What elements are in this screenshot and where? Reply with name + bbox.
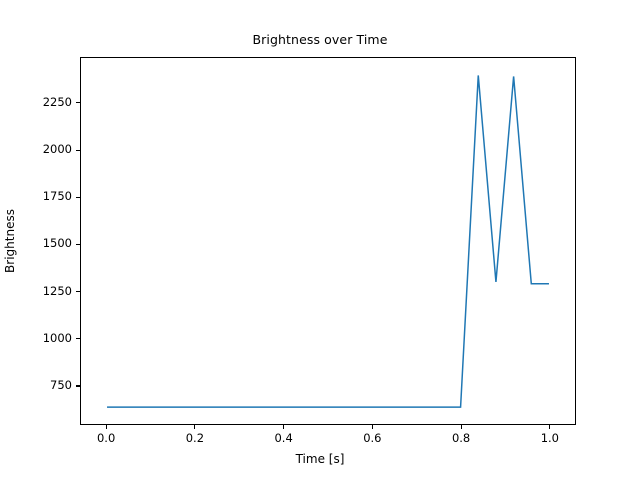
x-tick-label: 0.2 xyxy=(170,431,220,445)
page-title: Brightness over Time xyxy=(0,32,640,47)
y-tick-label: 750 xyxy=(50,378,72,392)
x-tick-mark xyxy=(194,425,195,429)
x-tick-label: 0.4 xyxy=(259,431,309,445)
x-tick-mark xyxy=(372,425,373,429)
y-tick-label: 2000 xyxy=(43,142,72,156)
brightness-line-series xyxy=(107,75,549,407)
x-tick-mark xyxy=(461,425,462,429)
x-tick-label: 0.6 xyxy=(347,431,397,445)
x-tick-label: 1.0 xyxy=(525,431,575,445)
x-tick-label: 0.0 xyxy=(81,431,131,445)
x-tick-mark xyxy=(549,425,550,429)
y-tick-label: 1250 xyxy=(43,284,72,298)
y-tick-label: 2250 xyxy=(43,95,72,109)
y-axis-label: Brightness xyxy=(3,209,17,273)
y-tick-label: 1500 xyxy=(43,236,72,250)
x-axis-label: Time [s] xyxy=(0,452,640,466)
plot-axes-frame xyxy=(80,57,576,425)
y-tick-label: 1000 xyxy=(43,331,72,345)
x-tick-label: 0.8 xyxy=(436,431,486,445)
matplotlib-figure: Brightness over Time Brightness Time [s]… xyxy=(0,0,640,480)
x-tick-mark xyxy=(283,425,284,429)
y-tick-label: 1750 xyxy=(43,189,72,203)
plot-area xyxy=(81,58,575,424)
x-tick-mark xyxy=(106,425,107,429)
